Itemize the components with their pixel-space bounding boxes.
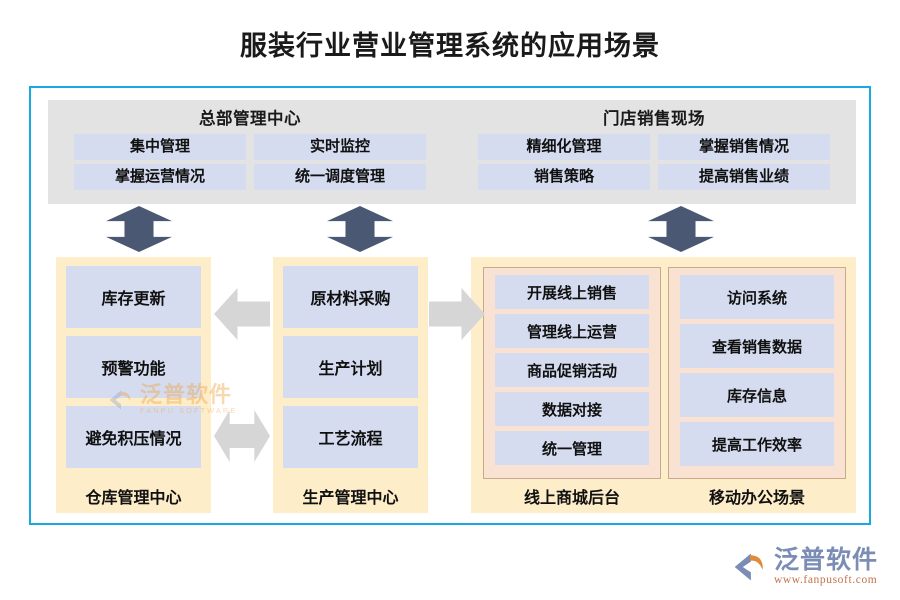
panel-online-mall: 开展线上销售 管理线上运营 商品促销活动 数据对接 统一管理 bbox=[483, 267, 661, 479]
band-cells-headquarters: 集中管理 实时监控 掌握运营情况 统一调度管理 bbox=[48, 129, 452, 190]
panel-mobile-office-label: 移动办公场景 bbox=[668, 484, 846, 508]
panel-mobile-office-items: 访问系统 查看销售数据 库存信息 提高工作效率 bbox=[669, 268, 845, 466]
diagram-frame: 总部管理中心 集中管理 实时监控 掌握运营情况 统一调度管理 门店销售现场 精细… bbox=[29, 86, 871, 525]
list-item[interactable]: 避免积压情况 bbox=[66, 406, 201, 468]
list-item[interactable]: 工艺流程 bbox=[283, 406, 418, 468]
column-production: 原材料采购 生产计划 工艺流程 生产管理中心 bbox=[273, 257, 428, 513]
band-cells-store: 精细化管理 掌握销售情况 销售策略 提高销售业绩 bbox=[452, 129, 856, 190]
list-item[interactable]: 开展线上销售 bbox=[495, 275, 649, 309]
list-item[interactable]: 提高工作效率 bbox=[680, 422, 834, 466]
brand-logo: 泛普软件 www.fanpusoft.com bbox=[732, 548, 878, 586]
top-band: 总部管理中心 集中管理 实时监控 掌握运营情况 统一调度管理 门店销售现场 精细… bbox=[48, 100, 856, 204]
list-item[interactable]: 生产计划 bbox=[283, 336, 418, 398]
list-item[interactable]: 原材料采购 bbox=[283, 266, 418, 328]
band-group-headquarters: 总部管理中心 集中管理 实时监控 掌握运营情况 统一调度管理 bbox=[48, 100, 452, 204]
band-cell[interactable]: 实时监控 bbox=[254, 134, 426, 160]
band-cell[interactable]: 统一调度管理 bbox=[254, 164, 426, 190]
fanpu-logo-icon bbox=[732, 549, 768, 585]
band-cell[interactable]: 精细化管理 bbox=[478, 134, 650, 160]
band-group-store: 门店销售现场 精细化管理 掌握销售情况 销售策略 提高销售业绩 bbox=[452, 100, 856, 204]
band-cell[interactable]: 销售策略 bbox=[478, 164, 650, 190]
double-arrow-vertical-icon bbox=[106, 206, 172, 252]
panel-online-mall-label: 线上商城后台 bbox=[483, 484, 661, 508]
list-item[interactable]: 商品促销活动 bbox=[495, 353, 649, 387]
list-item[interactable]: 数据对接 bbox=[495, 392, 649, 426]
brand-url: www.fanpusoft.com bbox=[774, 574, 878, 586]
column-production-items: 原材料采购 生产计划 工艺流程 bbox=[274, 258, 427, 468]
arrow-left-icon bbox=[214, 288, 270, 340]
page-title: 服装行业营业管理系统的应用场景 bbox=[0, 24, 900, 63]
band-cell[interactable]: 提高销售业绩 bbox=[658, 164, 830, 190]
list-item[interactable]: 访问系统 bbox=[680, 275, 834, 319]
double-arrow-vertical-icon bbox=[648, 206, 714, 252]
band-cell[interactable]: 集中管理 bbox=[74, 134, 246, 160]
band-cell[interactable]: 掌握运营情况 bbox=[74, 164, 246, 190]
column-warehouse: 库存更新 预警功能 避免积压情况 仓库管理中心 bbox=[56, 257, 211, 513]
double-arrow-vertical-icon bbox=[327, 206, 393, 252]
column-warehouse-items: 库存更新 预警功能 避免积压情况 bbox=[57, 258, 210, 468]
band-title-headquarters: 总部管理中心 bbox=[48, 100, 452, 129]
list-item[interactable]: 统一管理 bbox=[495, 431, 649, 465]
column-production-label: 生产管理中心 bbox=[274, 484, 427, 508]
band-cell[interactable]: 掌握销售情况 bbox=[658, 134, 830, 160]
list-item[interactable]: 查看销售数据 bbox=[680, 324, 834, 368]
list-item[interactable]: 库存信息 bbox=[680, 373, 834, 417]
list-item[interactable]: 预警功能 bbox=[66, 336, 201, 398]
panel-online-mall-items: 开展线上销售 管理线上运营 商品促销活动 数据对接 统一管理 bbox=[484, 268, 660, 465]
panel-mobile-office: 访问系统 查看销售数据 库存信息 提高工作效率 bbox=[668, 267, 846, 479]
band-title-store: 门店销售现场 bbox=[452, 100, 856, 129]
list-item[interactable]: 库存更新 bbox=[66, 266, 201, 328]
double-arrow-horizontal-icon bbox=[214, 410, 270, 462]
brand-name: 泛普软件 bbox=[774, 548, 878, 574]
column-right-group: 开展线上销售 管理线上运营 商品促销活动 数据对接 统一管理 访问系统 查看销售… bbox=[471, 257, 856, 513]
list-item[interactable]: 管理线上运营 bbox=[495, 314, 649, 348]
column-warehouse-label: 仓库管理中心 bbox=[57, 484, 210, 508]
